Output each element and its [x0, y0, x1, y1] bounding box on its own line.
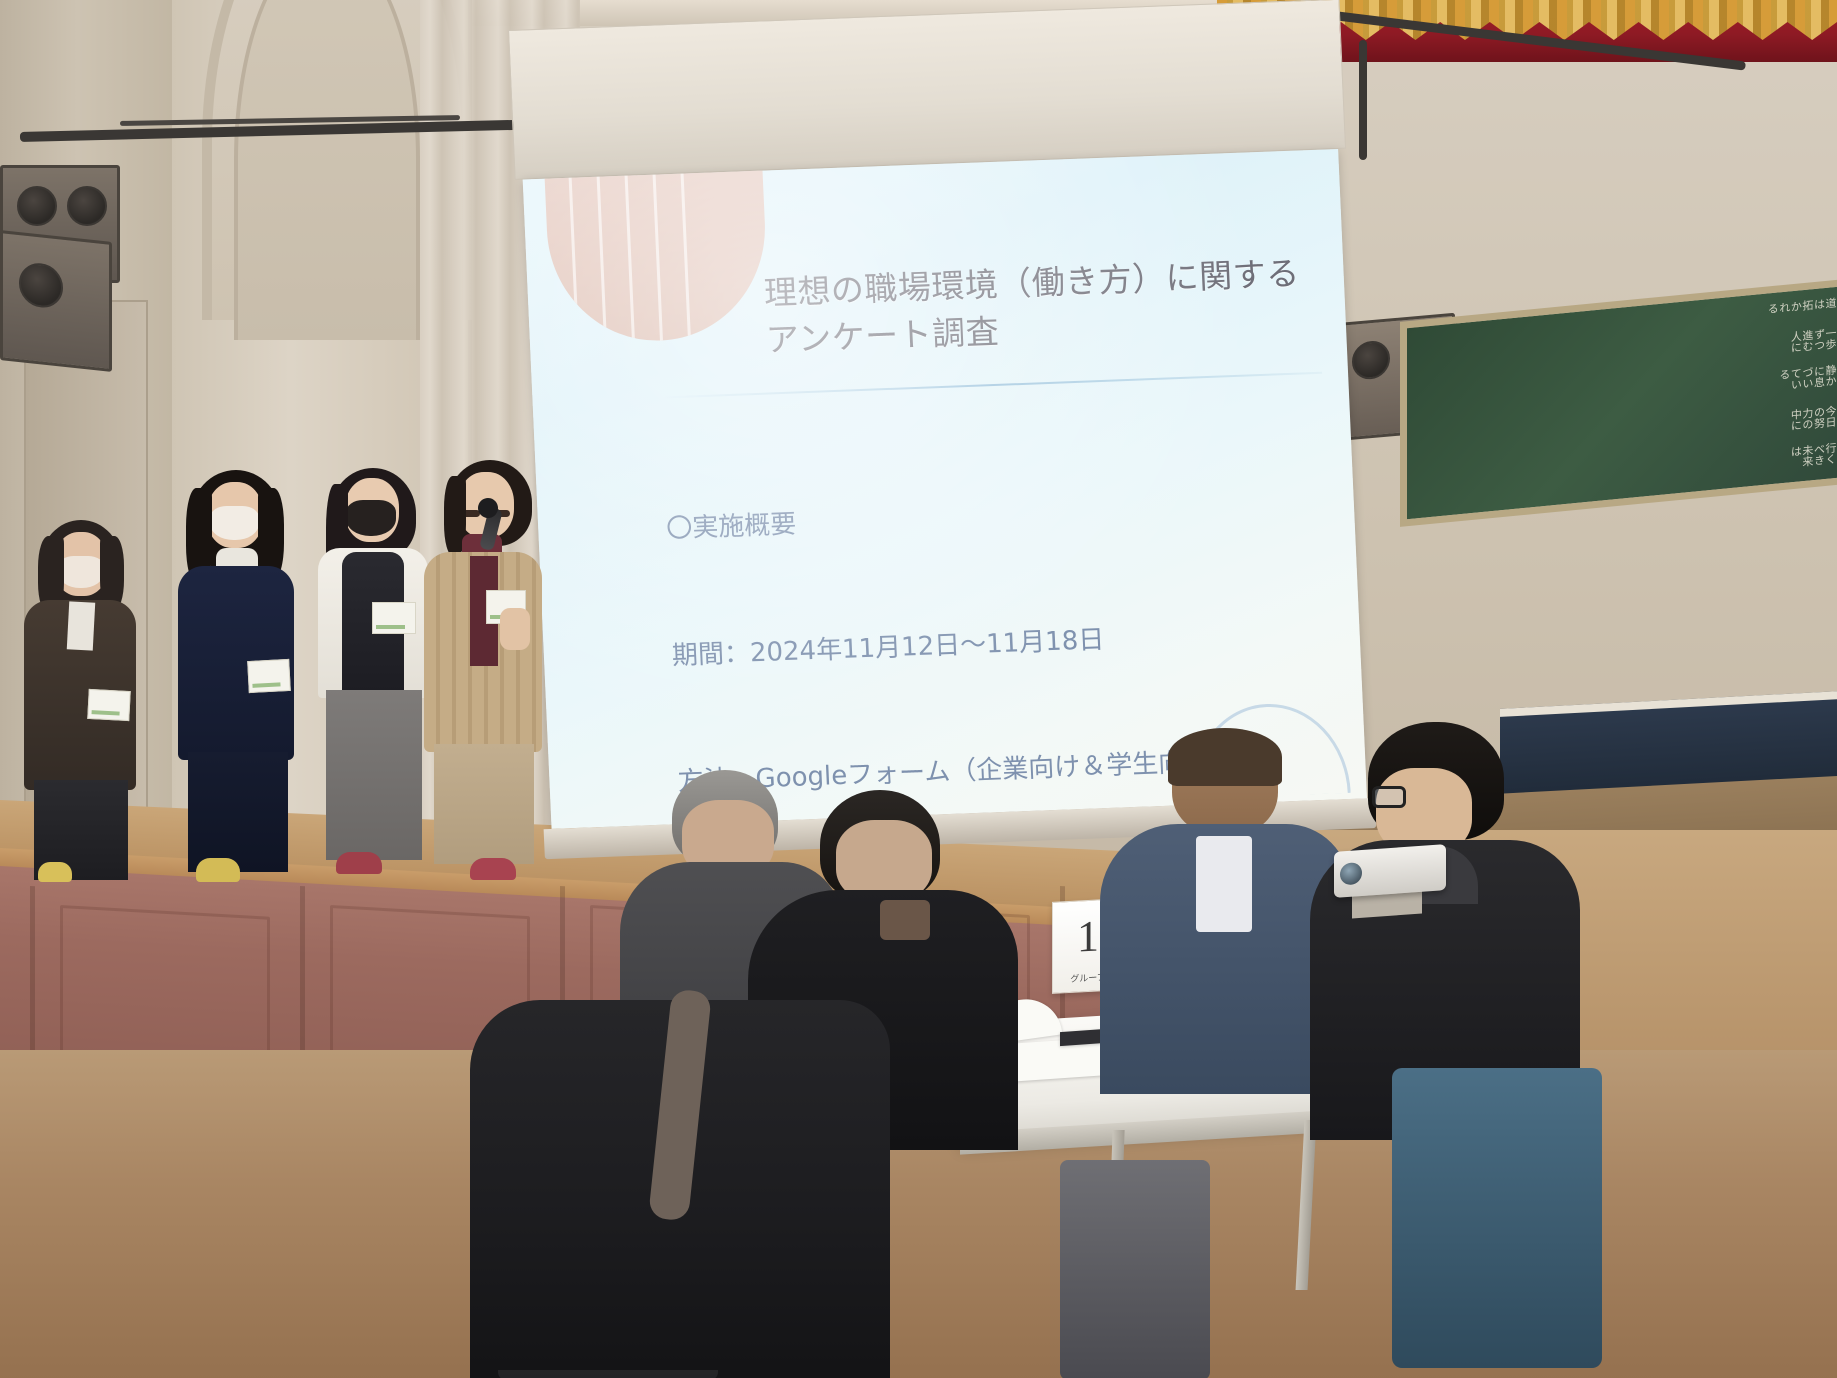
shirt-collar [1196, 836, 1252, 932]
projector [1334, 844, 1446, 898]
wall-speaker-lower [0, 230, 112, 372]
presenter-1-slippers [38, 862, 72, 882]
presenter-2-slippers [196, 858, 240, 882]
chair-blue[interactable] [1392, 1068, 1602, 1368]
blackboard-column: 行くべき未来は [1767, 442, 1836, 473]
presenter-3-slippers [336, 852, 382, 874]
slide-section-heading: 〇実施概要 [665, 483, 1346, 551]
presenter-4-slippers [470, 858, 516, 880]
ceiling-pipe-vertical [1359, 40, 1367, 160]
wall-arch-inner [234, 0, 420, 340]
chair-grey[interactable] [1060, 1160, 1210, 1378]
blackboard-column: 一歩ずつ進む人に [1767, 327, 1836, 362]
projector-lens [1340, 862, 1362, 886]
blackboard-text: 行くべき未来は 今日の努力の中に 静かに息づいている 一歩ずつ進む人に 道は拓か… [1767, 297, 1836, 474]
slide-decor-fan [544, 149, 770, 345]
blackboard-column: 道は拓かれる [1767, 297, 1836, 325]
slide-surface: 理想の職場環境（働き方）に関する アンケート調査 〇実施概要 期間：2024年1… [523, 149, 1367, 829]
presenter-4-hand [500, 608, 530, 650]
collar-detail [880, 900, 930, 940]
blackboard-column: 今日の努力の中に [1767, 405, 1836, 440]
blackboard-column: 静かに息づいている [1767, 364, 1836, 402]
slide-title: 理想の職場環境（働き方）に関する アンケート調査 [763, 250, 1327, 365]
presentation-photo-scene: 令和6年度卒業記念［記念品］ 行くべき未来は 今日の努力の中に 静かに息づいてい… [0, 0, 1837, 1378]
glasses [1372, 786, 1406, 808]
slide-title-divider [662, 372, 1322, 399]
wall-blackboard: 行くべき未来は 今日の努力の中に 静かに息づいている 一歩ずつ進む人に 道は拓か… [1400, 278, 1837, 527]
slide-body-line: 期間：2024年11月12日〜11月18日 [671, 609, 1352, 677]
